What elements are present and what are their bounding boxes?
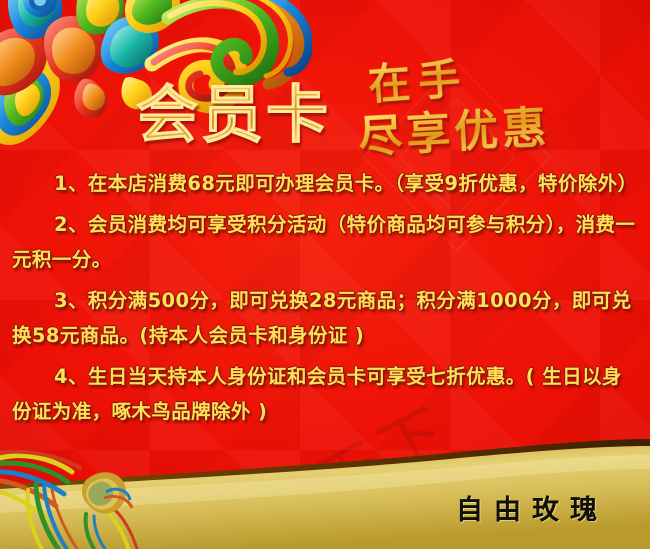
term-item-2: 2、会员消费均可享受积分活动（特价商品均可参与积分），消费一元积一分。 [12, 207, 640, 278]
brand-name: 自由玫瑰 [456, 488, 608, 527]
headline-subtitle-line2: 尽享优惠 [356, 91, 551, 165]
membership-card-poster: 图行天下 [0, 0, 650, 549]
term-item-4: 4、生日当天持本人身份证和会员卡可享受七折优惠。( 生日以身份证为准，啄木鸟品牌… [12, 359, 640, 430]
headline-block: 会员卡 在手 尽享优惠 [0, 52, 650, 162]
term-item-1: 1、在本店消费68元即可办理会员卡。（享受9折优惠，特价除外） [12, 166, 640, 202]
page-title: 会员卡 [136, 64, 331, 154]
floral-plume-ornament-bottom-left [0, 450, 290, 549]
terms-list: 1、在本店消费68元即可办理会员卡。（享受9折优惠，特价除外） 2、会员消费均可… [12, 166, 640, 435]
term-item-3: 3、积分满500分，即可兑换28元商品；积分满1000分，即可兑换58元商品。(… [12, 283, 640, 354]
